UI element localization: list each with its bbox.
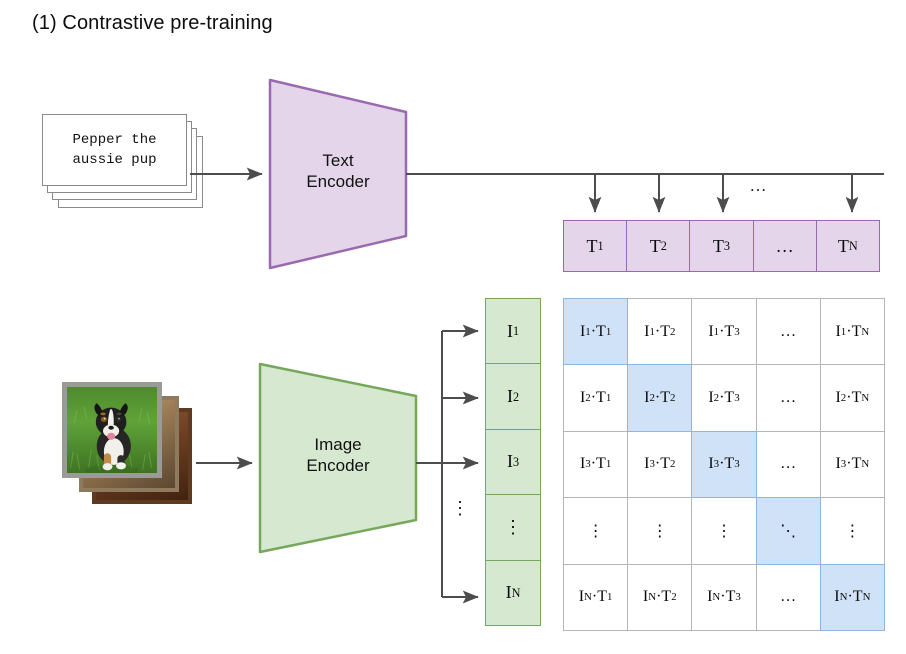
similarity-cell: I2·T1 — [563, 364, 628, 431]
text-embedding-row: T1T2T3…TN — [563, 220, 880, 272]
similarity-cell: ⋱ — [756, 497, 821, 564]
puppy-photo-icon — [67, 387, 157, 473]
text-embedding-cell: T3 — [689, 220, 753, 272]
similarity-cell: IN·T1 — [563, 564, 628, 631]
similarity-cell: ⋮ — [820, 497, 885, 564]
image-embedding-cell: I2 — [485, 363, 541, 429]
similarity-cell: … — [756, 431, 821, 498]
text-card-front: Pepper the aussie pup — [42, 114, 187, 186]
text-encoder-shape — [268, 78, 408, 270]
caption-text: Pepper the aussie pup — [72, 130, 156, 171]
diagram-canvas: (1) Contrastive pre-training Pepper the … — [0, 0, 906, 654]
text-embedding-cell: T1 — [563, 220, 627, 272]
image-input-stack — [62, 382, 202, 510]
image-encoder-shape — [258, 362, 418, 554]
caption-line-1: Pepper the — [72, 132, 156, 148]
text-branch-ellipsis: … — [742, 176, 774, 196]
similarity-cell: ⋮ — [563, 497, 628, 564]
text-encoder-block[interactable]: Text Encoder — [268, 78, 408, 270]
image-embedding-cell: ⋮ — [485, 494, 541, 560]
similarity-cell: I1·TN — [820, 298, 885, 365]
similarity-cell: I1·T1 — [563, 298, 628, 365]
similarity-cell: … — [756, 298, 821, 365]
text-embedding-cell: TN — [816, 220, 880, 272]
text-input-stack: Pepper the aussie pup — [42, 114, 242, 226]
similarity-cell: IN·TN — [820, 564, 885, 631]
image-embedding-column: I1I2I3⋮IN — [485, 298, 541, 626]
similarity-cell: I3·T3 — [691, 431, 756, 498]
image-embedding-cell: IN — [485, 560, 541, 626]
similarity-cell: IN·T3 — [691, 564, 756, 631]
similarity-cell: I1·T3 — [691, 298, 756, 365]
text-embedding-cell: T2 — [626, 220, 690, 272]
similarity-cell: ⋮ — [691, 497, 756, 564]
similarity-cell: I2·T3 — [691, 364, 756, 431]
similarity-cell: I3·T1 — [563, 431, 628, 498]
caption-line-2: aussie pup — [72, 152, 156, 168]
image-branch-ellipsis: ⋮ — [450, 498, 470, 519]
similarity-matrix: I1·T1I1·T2I1·T3…I1·TNI2·T1I2·T2I2·T3…I2·… — [563, 298, 884, 630]
similarity-cell: I3·TN — [820, 431, 885, 498]
text-embedding-cell: … — [753, 220, 817, 272]
similarity-cell: I1·T2 — [627, 298, 692, 365]
image-embedding-cell: I3 — [485, 429, 541, 495]
similarity-cell: ⋮ — [627, 497, 692, 564]
similarity-cell: … — [756, 364, 821, 431]
photo-front-puppy — [62, 382, 162, 478]
similarity-cell: I3·T2 — [627, 431, 692, 498]
similarity-cell: I2·TN — [820, 364, 885, 431]
image-embedding-cell: I1 — [485, 298, 541, 364]
image-encoder-block[interactable]: Image Encoder — [258, 362, 418, 554]
similarity-cell: … — [756, 564, 821, 631]
similarity-cell: IN·T2 — [627, 564, 692, 631]
similarity-cell: I2·T2 — [627, 364, 692, 431]
page-title: (1) Contrastive pre-training — [32, 12, 273, 35]
